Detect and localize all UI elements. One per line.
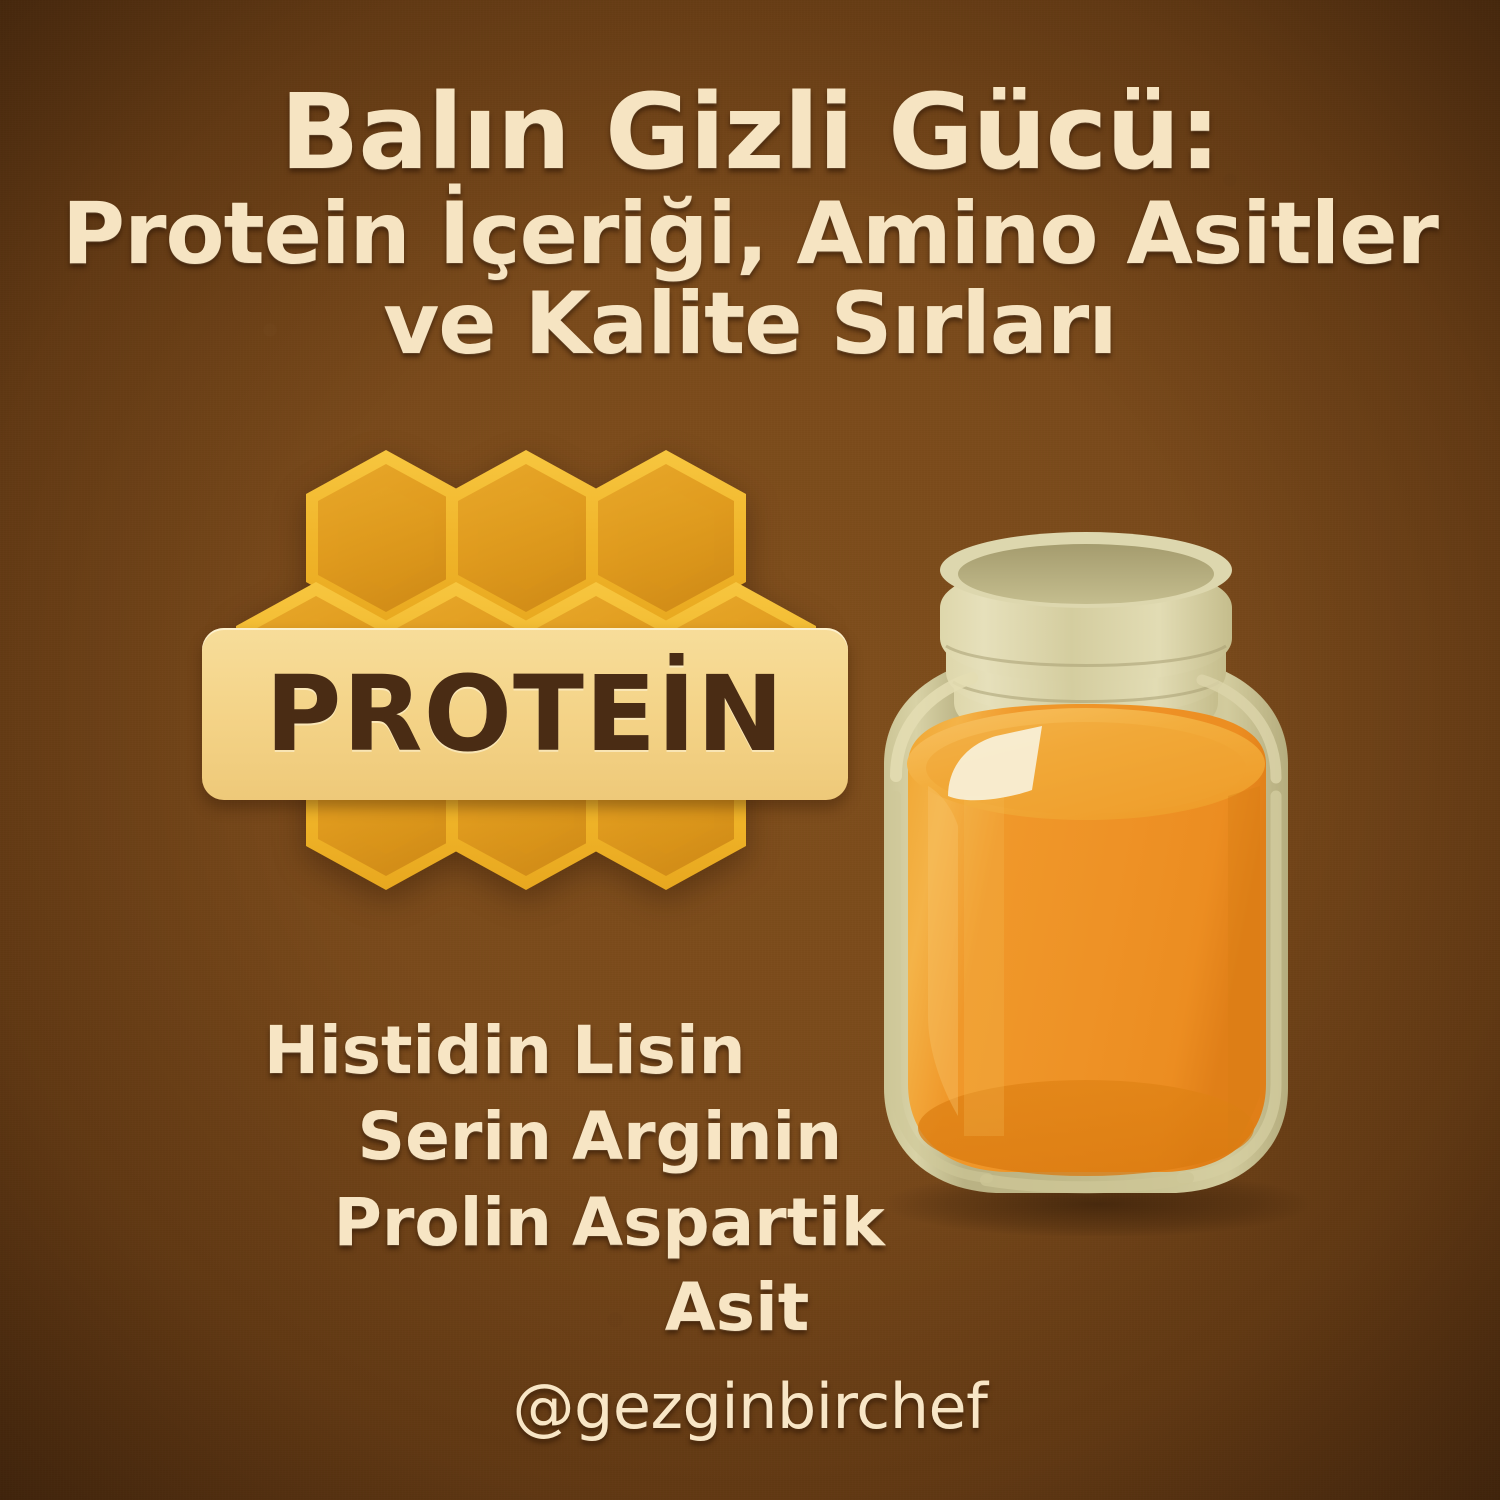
protein-badge-label: PROTEİN bbox=[265, 662, 784, 766]
amino-acid-item: Asit bbox=[572, 1265, 902, 1351]
jar-mouth bbox=[940, 532, 1232, 608]
amino-acid-item: Lisin bbox=[572, 1008, 952, 1094]
amino-acid-item: Aspartik bbox=[572, 1180, 952, 1266]
page-title: Balın Gizli Gücü: Protein İçeriği, Amino… bbox=[0, 78, 1500, 369]
amino-acid-item: Serin bbox=[262, 1094, 552, 1180]
title-line-3: ve Kalite Sırları bbox=[0, 280, 1500, 369]
title-line-2: Protein İçeriği, Amino Asitler bbox=[0, 190, 1500, 279]
amino-acid-item: Histidin bbox=[262, 1008, 552, 1094]
amino-acid-item: Arginin bbox=[572, 1094, 952, 1180]
amino-acid-item: Prolin bbox=[262, 1180, 552, 1266]
amino-acid-list-left: Histidin Serin Prolin bbox=[262, 1008, 552, 1265]
protein-badge-banner: PROTEİN bbox=[202, 628, 848, 800]
poster-canvas: Balın Gizli Gücü: Protein İçeriği, Amino… bbox=[0, 0, 1500, 1500]
title-line-1: Balın Gizli Gücü: bbox=[0, 78, 1500, 186]
amino-acid-list-right: Lisin Arginin Aspartik Asit bbox=[572, 1008, 952, 1351]
social-handle: @gezginbirchef bbox=[0, 1370, 1500, 1443]
